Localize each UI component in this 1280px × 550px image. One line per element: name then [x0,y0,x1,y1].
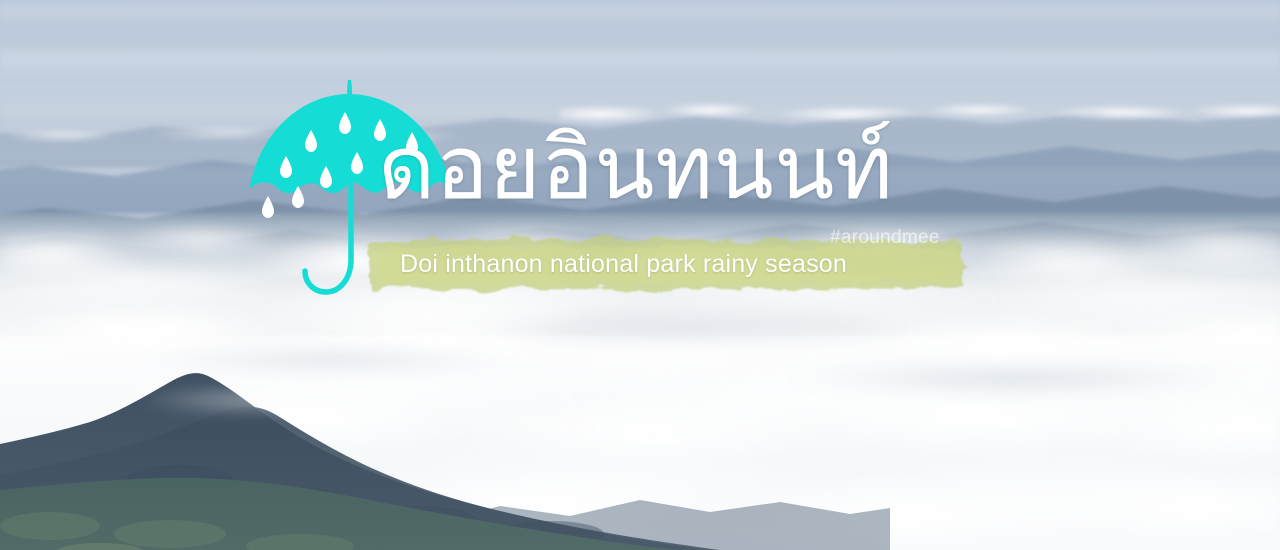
hero-banner: ดอยอินทนนท์ Doi inthanon national park r… [0,0,1280,550]
hashtag-watermark: #aroundmee [830,227,940,249]
page-title-thai: ดอยอินทนนท์ [378,124,978,212]
foreground-fields-ridge [0,434,680,550]
page-subtitle-english: Doi inthanon national park rainy season [400,250,847,279]
